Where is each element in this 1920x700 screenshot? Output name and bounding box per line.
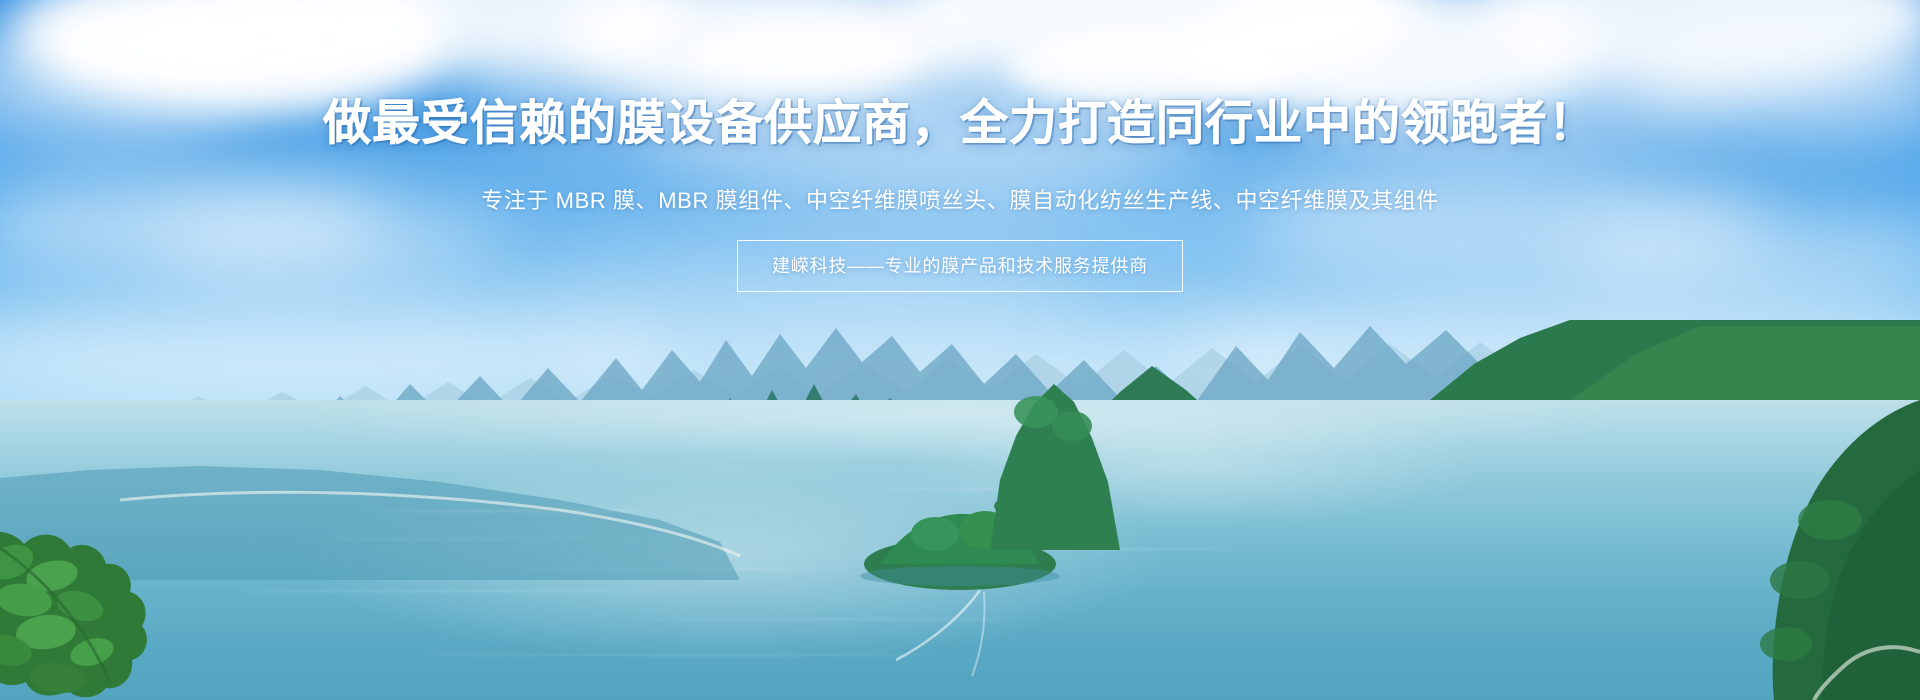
foliage-left <box>0 470 210 700</box>
banner-tagline-text: 建嵘科技——专业的膜产品和技术服务提供商 <box>772 256 1148 276</box>
banner-tagline-box[interactable]: 建嵘科技——专业的膜产品和技术服务提供商 <box>737 240 1183 292</box>
foliage-right <box>1500 400 1920 700</box>
hero-banner: 做最受信赖的膜设备供应商，全力打造同行业中的领跑者！ 专注于 MBR 膜、MBR… <box>0 0 1920 700</box>
banner-headline: 做最受信赖的膜设备供应商，全力打造同行业中的领跑者！ <box>323 96 1597 150</box>
banner-subtitle: 专注于 MBR 膜、MBR 膜组件、中空纤维膜喷丝头、膜自动化纺丝生产线、中空纤… <box>481 186 1439 216</box>
